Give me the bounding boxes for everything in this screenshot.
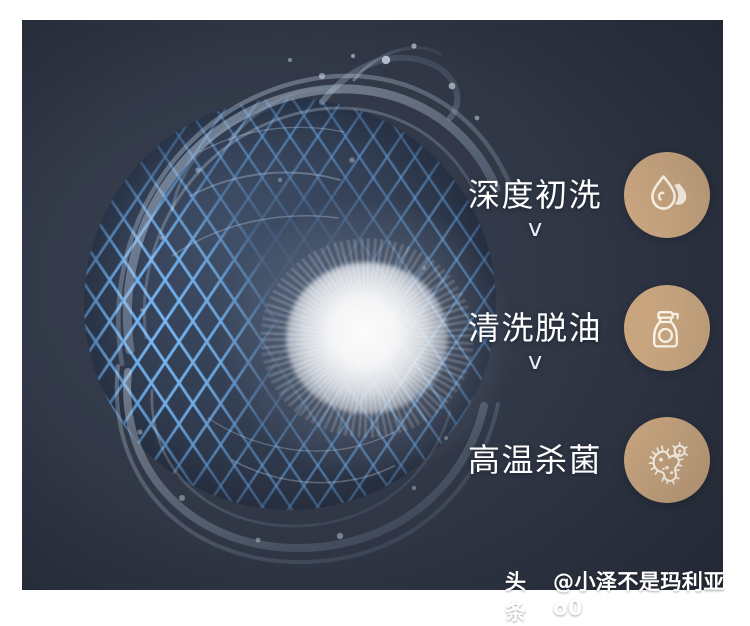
detergent-bottle-icon (641, 302, 693, 354)
step-1-icon-badge[interactable] (624, 152, 710, 238)
step-2-label: 清洗脱油 (468, 312, 602, 344)
process-step-3[interactable]: 高温杀菌 (442, 413, 710, 507)
step-3-label: 高温杀菌 (468, 444, 602, 476)
page-canvas: 深度初洗 清洗脱油 (0, 0, 750, 611)
step-2-icon-badge[interactable] (624, 285, 710, 371)
process-step-1[interactable]: 深度初洗 (442, 148, 710, 242)
step-separator-chevron-1: v (528, 216, 542, 240)
bacteria-icon (641, 434, 693, 486)
watermark-username: @小泽不是玛利亚o0 (553, 566, 750, 620)
process-step-2[interactable]: 清洗脱油 (442, 281, 710, 375)
sphere-rim-shadow (84, 98, 496, 510)
mesh-sphere (84, 98, 496, 510)
watermark-brand: 头条 (505, 566, 547, 626)
step-separator-chevron-2: v (528, 349, 542, 373)
process-step-list: 深度初洗 清洗脱油 (442, 132, 710, 528)
water-drop-icon (641, 169, 693, 221)
watermark: 头条 @小泽不是玛利亚o0 (505, 566, 750, 626)
product-photo: 深度初洗 清洗脱油 (22, 20, 723, 590)
step-3-icon-badge[interactable] (624, 417, 710, 503)
step-1-label: 深度初洗 (468, 179, 602, 211)
